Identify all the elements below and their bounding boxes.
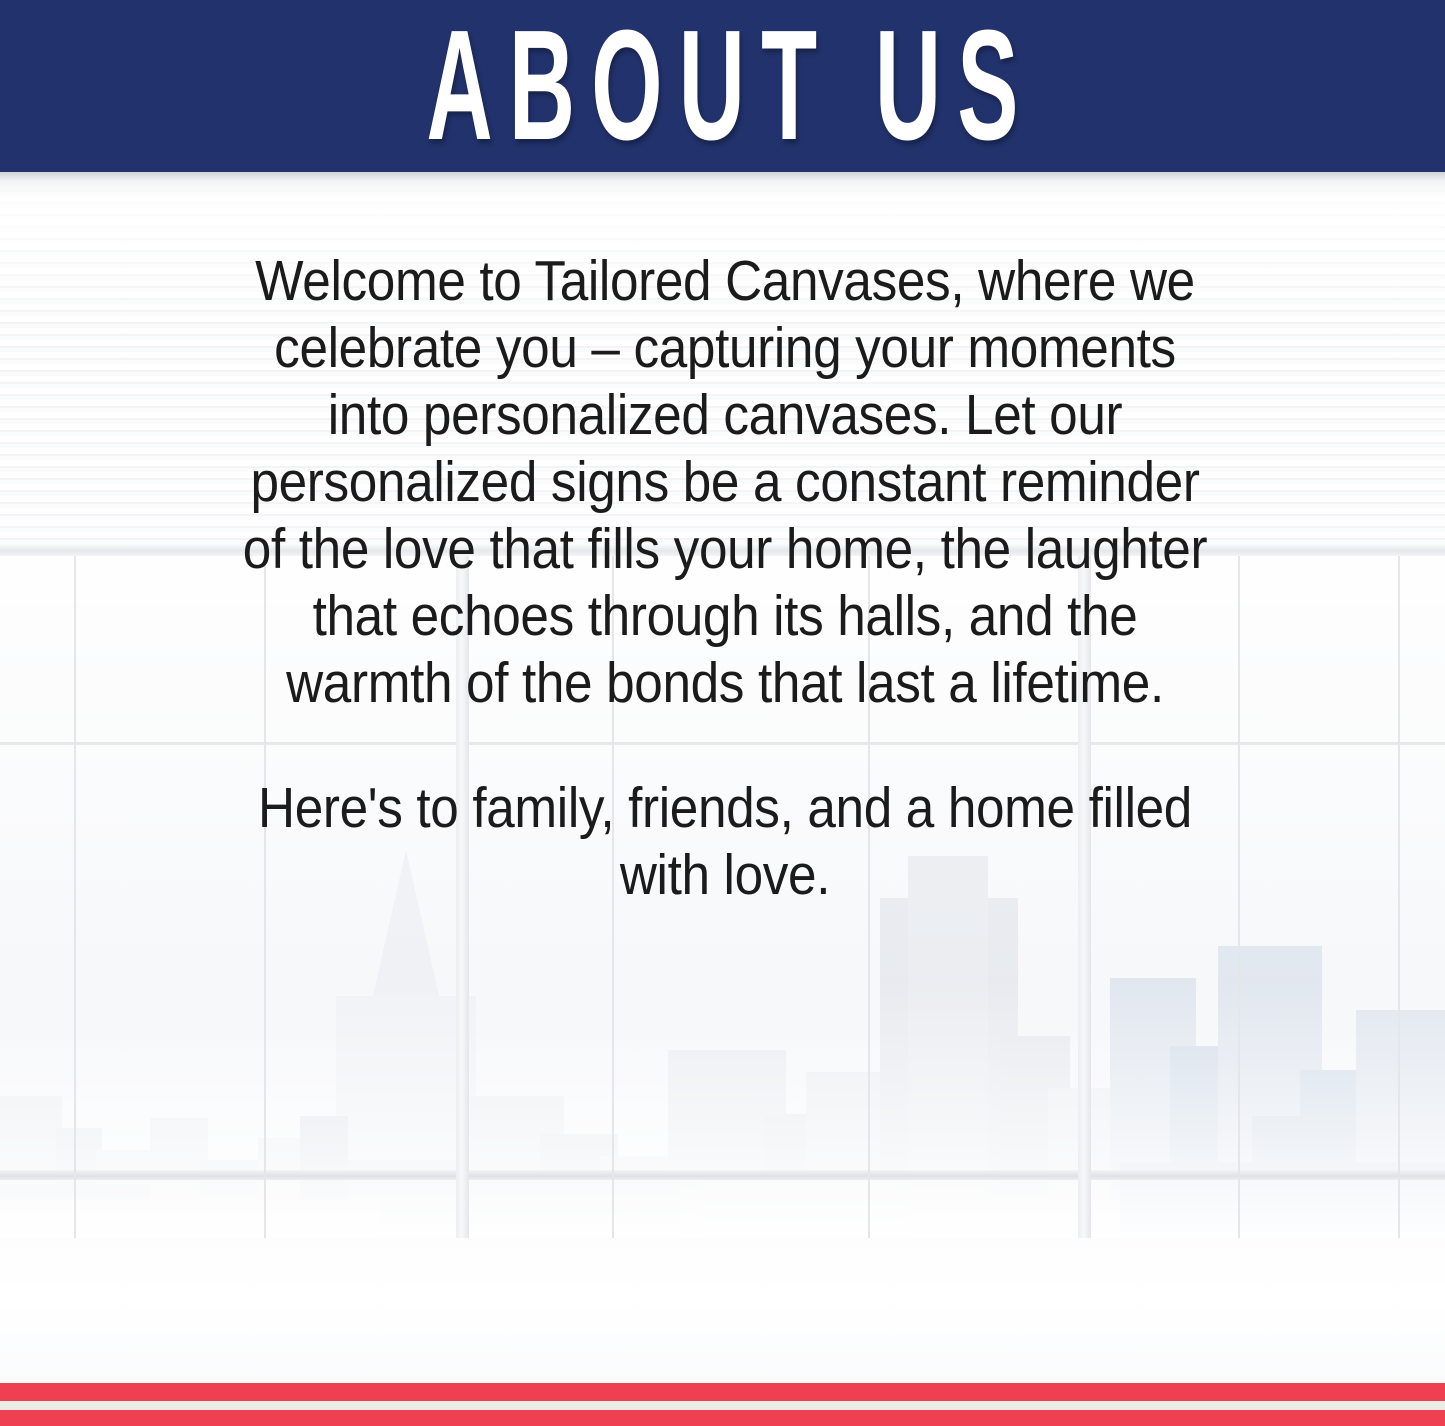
founder-signature-block: Founder of Tailored Canvases: [0, 1040, 1445, 1340]
about-paragraph-1: Welcome to Tailored Canvases, where we c…: [230, 248, 1220, 717]
paragraph-spacer: [230, 717, 1220, 775]
page-title: ABOUT US: [410, 8, 1034, 165]
header-banner: ABOUT US: [0, 0, 1445, 172]
footer-bar-gap: [0, 1401, 1445, 1410]
about-us-poster: ABOUT US Welcome to Tailored Canvases, w…: [0, 0, 1445, 1426]
footer-red-bar-bottom: [0, 1410, 1445, 1426]
banner-drop-shadow: [0, 172, 1445, 198]
about-copy: Welcome to Tailored Canvases, where we c…: [230, 248, 1220, 909]
footer-red-bar-top: [0, 1383, 1445, 1401]
about-paragraph-2: Here's to family, friends, and a home fi…: [230, 775, 1220, 909]
